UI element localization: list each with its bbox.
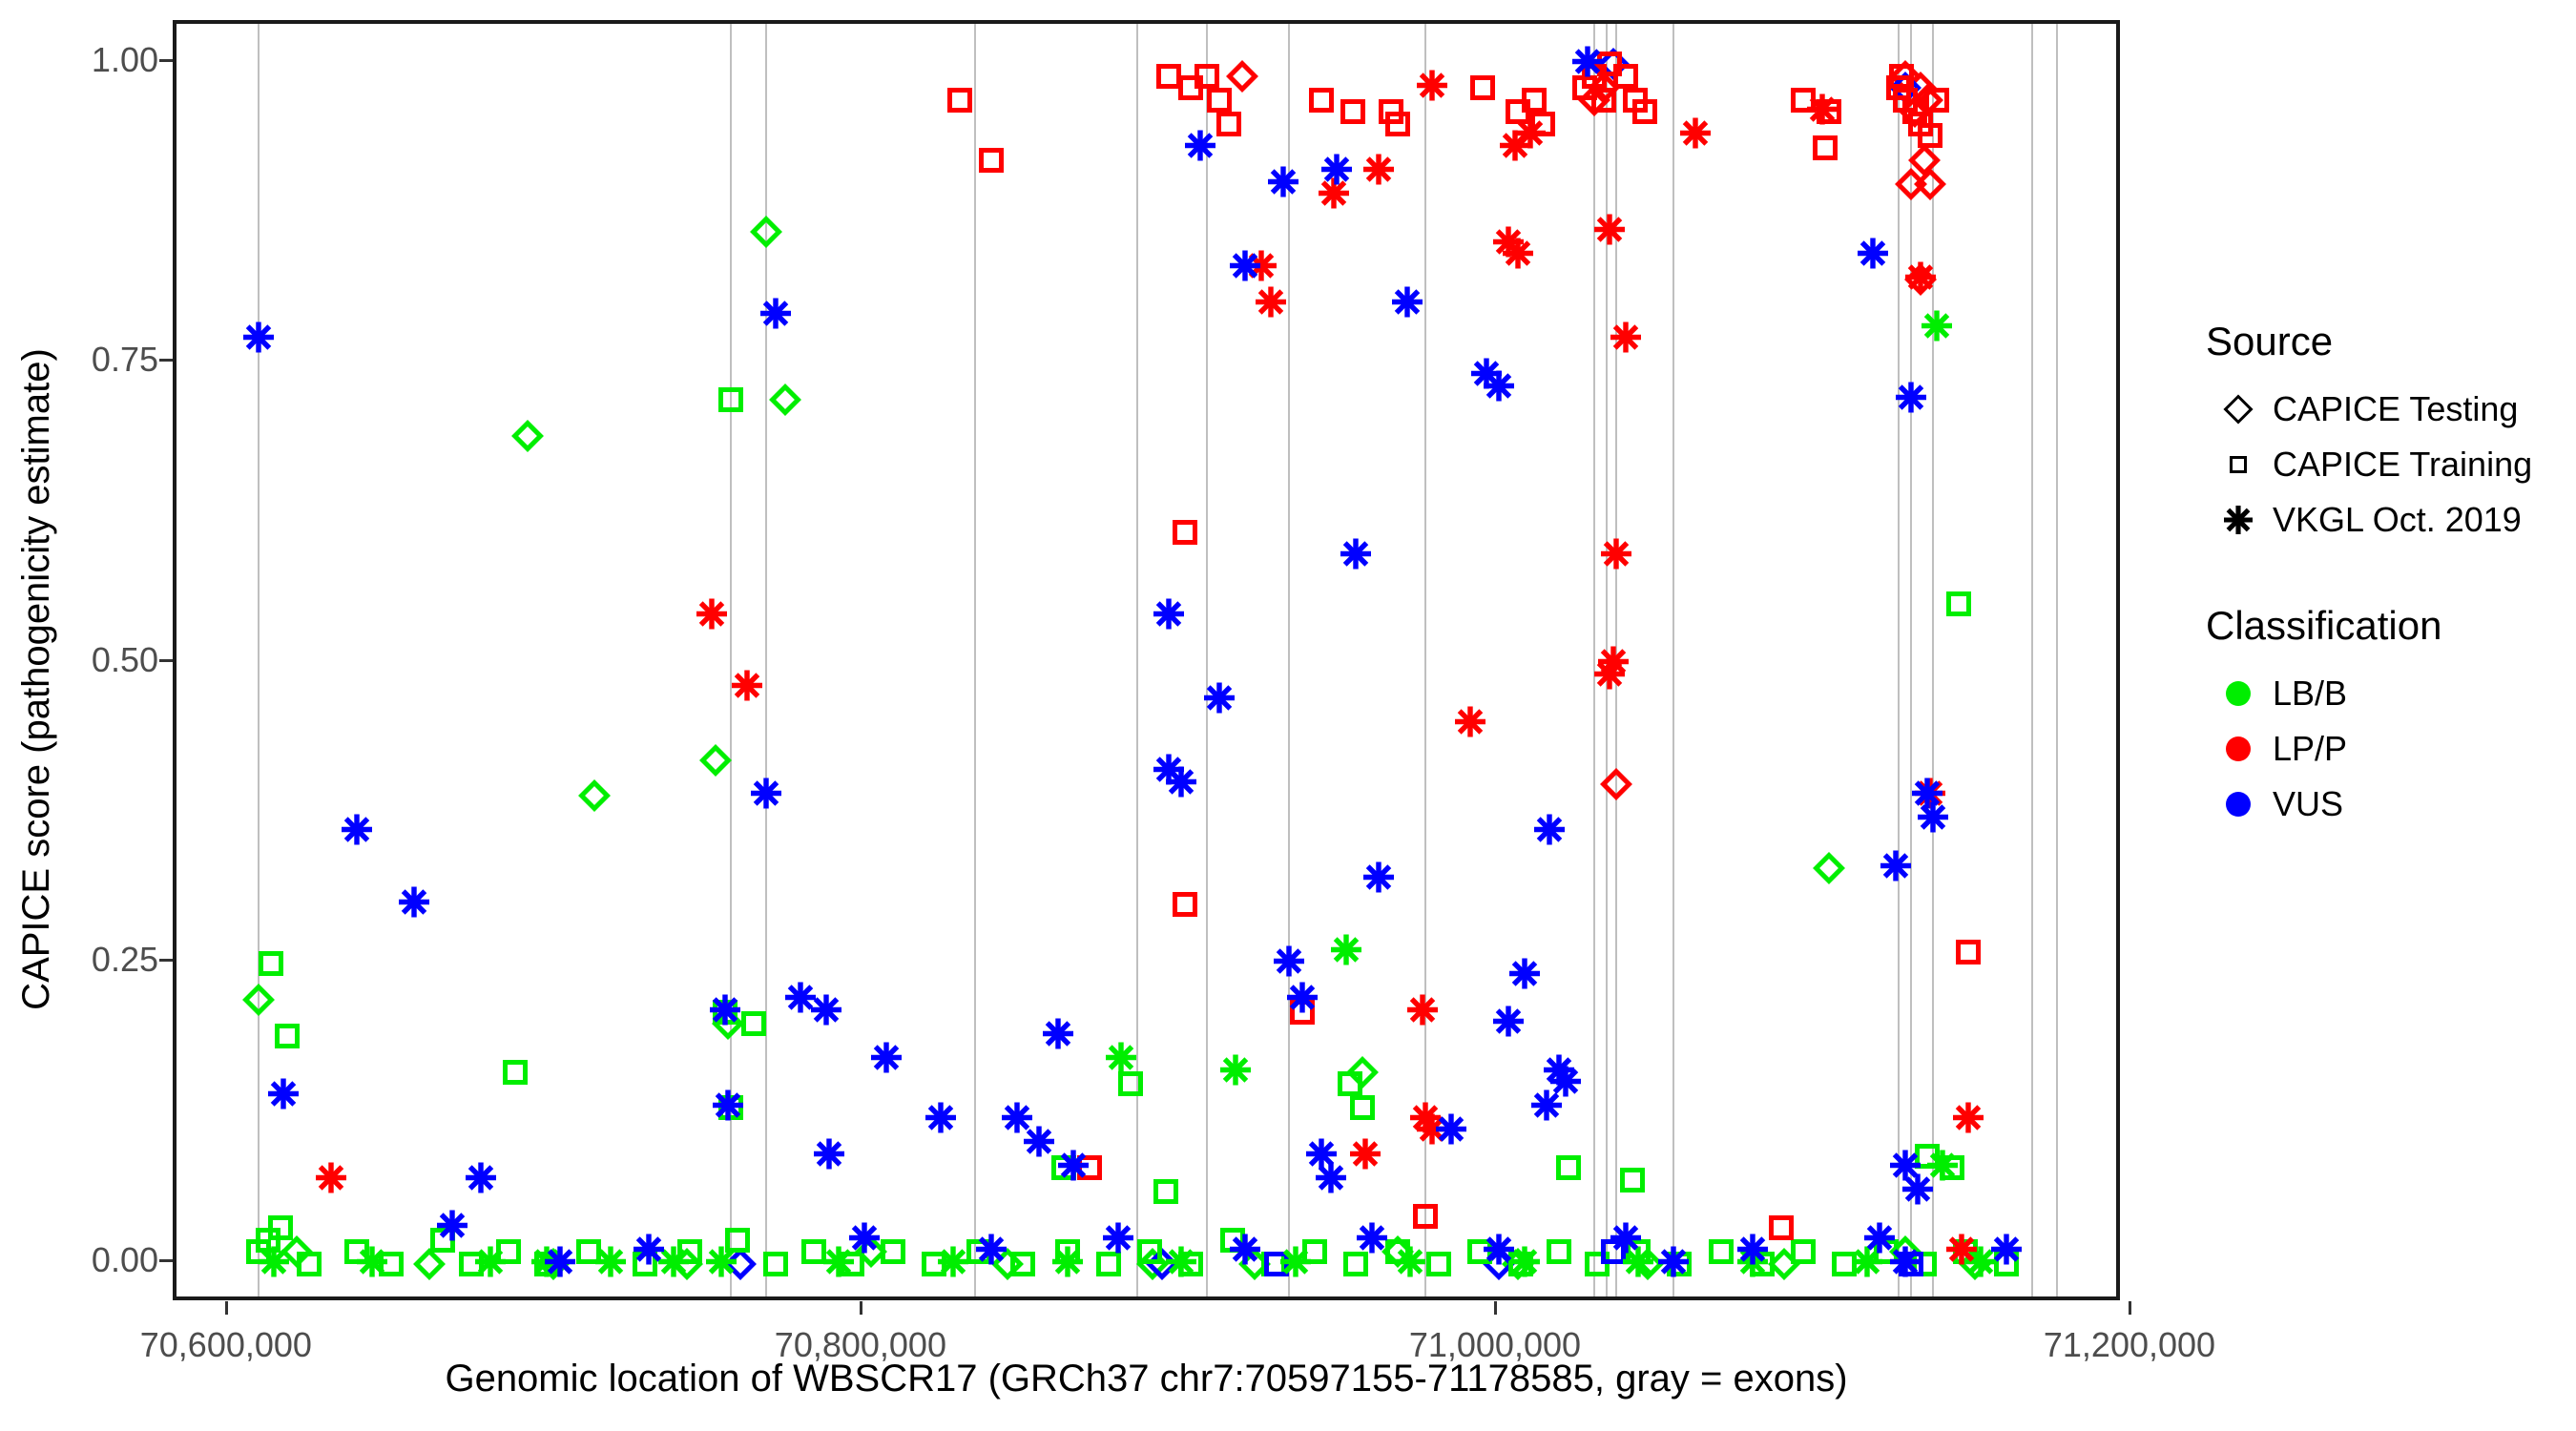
data-point <box>1502 238 1534 275</box>
data-point <box>1571 46 1604 83</box>
data-point <box>1470 75 1495 100</box>
x-tick-label: 70,800,000 <box>775 1328 946 1362</box>
data-point <box>1340 537 1372 574</box>
data-point <box>1267 165 1299 202</box>
data-point <box>516 425 539 447</box>
legend-item-label: VUS <box>2273 786 2343 822</box>
data-point <box>356 1245 388 1282</box>
data-point <box>259 951 283 976</box>
y-tick-label: 1.00 <box>92 43 158 77</box>
data-point <box>315 1161 347 1198</box>
data-point <box>1597 645 1630 682</box>
data-point <box>1255 285 1287 322</box>
data-point <box>763 1252 788 1276</box>
data-point <box>474 1245 507 1282</box>
exon-line <box>2056 24 2058 1296</box>
x-tick-mark <box>2129 1301 2131 1315</box>
data-point <box>881 1239 905 1264</box>
data-point <box>1394 1245 1426 1282</box>
data-point <box>1406 993 1439 1030</box>
legend-item-label: VKGL Oct. 2019 <box>2273 502 2522 538</box>
data-point <box>979 148 1004 173</box>
data-point <box>544 1245 576 1282</box>
data-point <box>1207 88 1232 113</box>
exon-line <box>1288 24 1290 1296</box>
x-tick-label: 71,000,000 <box>1409 1328 1581 1362</box>
legend: SourceCAPICE TestingCAPICE TrainingVKGL … <box>2204 315 2566 832</box>
data-point <box>1610 1221 1642 1258</box>
data-point <box>398 885 430 923</box>
data-point <box>1385 112 1410 136</box>
data-point <box>1956 940 1981 964</box>
chart-root: CAPICE score (pathogenicity estimate) Ge… <box>0 0 2576 1431</box>
data-point <box>1356 1221 1388 1258</box>
asterisk-icon <box>2204 505 2273 535</box>
data-point <box>1736 1234 1769 1271</box>
data-point <box>750 778 782 815</box>
x-tick-mark <box>1494 1301 1497 1315</box>
data-point <box>1340 99 1365 124</box>
data-point <box>1880 849 1912 886</box>
exon-line <box>1910 24 1912 1296</box>
legend-item[interactable]: LB/B <box>2204 666 2566 721</box>
legend-item[interactable]: VUS <box>2204 777 2566 832</box>
data-point <box>1153 597 1185 634</box>
exon-line <box>2031 24 2033 1296</box>
y-tick-label: 0.50 <box>92 643 158 677</box>
data-point <box>975 1234 1008 1271</box>
data-point <box>1219 1053 1252 1090</box>
data-point <box>1229 1234 1261 1271</box>
data-point <box>1483 1234 1515 1271</box>
data-point <box>759 298 792 335</box>
y-tick-label: 0.25 <box>92 943 158 977</box>
data-point <box>1769 1215 1794 1240</box>
data-point <box>1231 65 1254 88</box>
data-point <box>712 1089 744 1127</box>
data-point <box>1533 814 1566 851</box>
legend-item[interactable]: LP/P <box>2204 721 2566 777</box>
data-point <box>1454 705 1486 742</box>
data-point <box>1813 135 1838 160</box>
exon-line <box>1932 24 1934 1296</box>
data-point <box>1591 88 1616 113</box>
data-point <box>1273 945 1305 983</box>
data-point <box>1153 1179 1178 1204</box>
y-tick-mark <box>159 959 173 962</box>
data-point <box>1547 1239 1571 1264</box>
data-point <box>1173 892 1197 917</box>
circle-icon <box>2204 681 2273 706</box>
y-tick-label: 0.00 <box>92 1243 158 1277</box>
data-point <box>1413 1204 1438 1229</box>
data-point <box>1184 130 1216 167</box>
data-point <box>242 321 275 359</box>
data-point <box>718 387 743 412</box>
x-tick-mark <box>225 1301 228 1315</box>
data-point <box>755 220 778 243</box>
data-point <box>1522 88 1547 113</box>
square-icon <box>2204 456 2273 473</box>
data-point <box>465 1161 497 1198</box>
exon-line <box>1136 24 1138 1296</box>
x-axis-title: Genomic location of WBSCR17 (GRCh37 chr7… <box>173 1355 2120 1402</box>
exon-line <box>258 24 260 1296</box>
data-point <box>1483 369 1515 406</box>
data-point <box>1709 1239 1734 1264</box>
data-point <box>1679 117 1712 155</box>
data-point <box>1010 1252 1035 1276</box>
data-point <box>1921 309 1953 346</box>
data-point <box>741 1011 766 1036</box>
data-point <box>1309 88 1334 113</box>
data-point <box>1229 249 1261 286</box>
data-point <box>1952 1101 1984 1138</box>
y-tick-mark <box>159 359 173 362</box>
data-point <box>1492 1006 1525 1043</box>
data-point <box>258 1245 290 1282</box>
x-tick-label: 71,200,000 <box>2044 1328 2215 1362</box>
data-point <box>503 1060 528 1085</box>
data-point <box>1901 1173 1934 1211</box>
legend-item-label: CAPICE Training <box>2273 446 2532 483</box>
data-point <box>696 597 728 634</box>
data-point <box>1051 1245 1084 1282</box>
data-point <box>848 1221 881 1258</box>
data-point <box>774 388 797 411</box>
data-point <box>418 1253 441 1275</box>
legend-item-label: CAPICE Testing <box>2273 391 2518 427</box>
exon-line <box>1206 24 1208 1296</box>
data-point <box>937 1245 969 1282</box>
data-point <box>731 670 763 707</box>
data-point <box>1806 93 1839 131</box>
data-point <box>1530 1089 1563 1127</box>
data-point <box>1057 1150 1090 1187</box>
x-tick-label: 70,600,000 <box>140 1328 312 1362</box>
data-point <box>1416 70 1448 107</box>
data-point <box>1350 1095 1375 1120</box>
data-point <box>1556 1155 1581 1180</box>
data-point <box>1620 1168 1645 1192</box>
data-point <box>341 814 373 851</box>
data-point <box>1338 1071 1362 1096</box>
data-point <box>1913 149 1936 172</box>
data-point <box>1514 117 1547 155</box>
plot-panel <box>173 20 2120 1300</box>
data-point <box>1857 238 1889 275</box>
data-point <box>1330 933 1362 970</box>
data-point <box>1904 261 1937 299</box>
data-point <box>583 784 606 807</box>
exon-line <box>974 24 976 1296</box>
data-point <box>1945 1234 1978 1271</box>
data-point <box>709 993 741 1030</box>
exon-line <box>1672 24 1674 1296</box>
data-point <box>1279 1245 1312 1282</box>
data-point <box>1917 801 1949 839</box>
legend-item[interactable]: VKGL Oct. 2019 <box>2204 492 2566 548</box>
legend-item[interactable]: CAPICE Training <box>2204 437 2566 492</box>
data-point <box>247 988 270 1011</box>
legend-item-label: LB/B <box>2273 675 2347 712</box>
data-point <box>1918 123 1942 148</box>
circle-icon <box>2204 792 2273 817</box>
data-point <box>1105 1042 1137 1079</box>
data-point <box>1315 1161 1347 1198</box>
data-point <box>1919 173 1942 196</box>
legend-item-label: LP/P <box>2273 731 2347 767</box>
data-point <box>1320 154 1353 191</box>
data-point <box>436 1210 468 1247</box>
y-tick-mark <box>159 59 173 62</box>
data-point <box>1632 99 1657 124</box>
data-point <box>1391 285 1423 322</box>
data-point <box>1362 154 1395 191</box>
data-point <box>947 88 972 113</box>
legend-title: Source <box>2206 315 2566 368</box>
data-point <box>924 1101 957 1138</box>
data-point <box>1203 681 1236 718</box>
y-tick-label: 0.75 <box>92 342 158 377</box>
x-tick-mark <box>860 1301 862 1315</box>
data-point <box>704 749 727 772</box>
data-point <box>1657 1245 1690 1282</box>
data-point <box>1216 112 1241 136</box>
data-point <box>1426 1252 1451 1276</box>
data-point <box>1990 1234 2023 1271</box>
data-point <box>1195 64 1219 89</box>
data-point <box>1946 591 1971 616</box>
data-point <box>870 1042 903 1079</box>
data-point <box>275 1024 300 1048</box>
data-point <box>1895 382 1927 419</box>
data-point <box>1137 1239 1162 1264</box>
circle-icon <box>2204 736 2273 761</box>
data-point <box>1610 321 1642 359</box>
data-point <box>1889 64 1914 89</box>
data-point <box>1165 765 1197 802</box>
data-point <box>810 993 842 1030</box>
data-point <box>1349 1137 1381 1174</box>
data-point <box>1102 1221 1134 1258</box>
data-point <box>1023 1126 1055 1163</box>
data-point <box>813 1137 845 1174</box>
data-point <box>1863 1221 1896 1258</box>
exon-line <box>1898 24 1900 1296</box>
data-point <box>1362 861 1395 899</box>
y-tick-mark <box>159 1259 173 1262</box>
data-point <box>1605 773 1628 796</box>
data-point <box>705 1245 737 1282</box>
legend-title: Classification <box>2206 599 2566 653</box>
data-point <box>297 1252 322 1276</box>
data-point <box>1508 957 1541 994</box>
data-point <box>1173 520 1197 545</box>
data-point <box>1435 1113 1467 1151</box>
data-point <box>1286 982 1319 1019</box>
data-point <box>633 1234 665 1271</box>
data-point <box>594 1245 627 1282</box>
legend-item[interactable]: CAPICE Testing <box>2204 382 2566 437</box>
data-point <box>1613 64 1638 89</box>
data-point <box>1600 537 1632 574</box>
y-axis-title: CAPICE score (pathogenicity estimate) <box>11 59 61 1299</box>
data-point <box>1042 1017 1074 1054</box>
data-point <box>1924 88 1949 113</box>
data-point <box>1165 1245 1197 1282</box>
data-point <box>1593 214 1626 251</box>
legend-spacer <box>2204 548 2566 599</box>
data-point <box>1818 857 1840 880</box>
diamond-icon <box>2204 399 2273 420</box>
data-point <box>1791 1239 1816 1264</box>
data-point <box>267 1077 300 1114</box>
data-point <box>1156 64 1181 89</box>
y-tick-mark <box>159 659 173 662</box>
